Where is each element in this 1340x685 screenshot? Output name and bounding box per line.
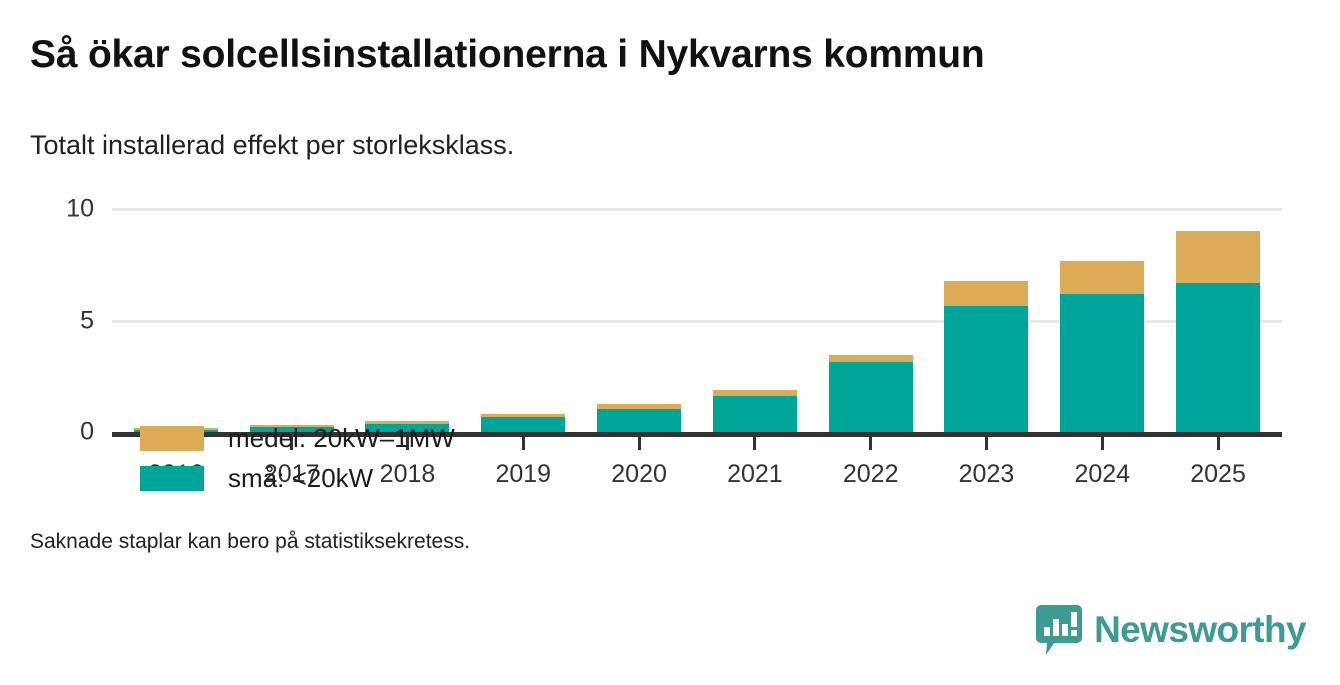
legend-item[interactable]: medel: 20kW–1MW [140, 418, 455, 458]
legend-swatch [140, 426, 204, 451]
tick-mark [1101, 437, 1104, 450]
legend-item[interactable]: små: <20kW [140, 458, 455, 498]
y-axis-labels: 0510 [0, 190, 112, 490]
tick-mark [753, 437, 756, 450]
bar-group[interactable] [813, 190, 929, 432]
bar-group[interactable] [697, 190, 813, 432]
bar-stack[interactable] [597, 404, 681, 432]
bar-segment-small[interactable] [944, 306, 1028, 432]
chart-subtitle: Totalt installerad effekt per storlekskl… [30, 130, 514, 161]
bar-group[interactable] [350, 190, 466, 432]
bar-group[interactable] [1160, 190, 1276, 432]
newsworthy-logo[interactable]: Newsworthy [1036, 605, 1306, 655]
chart-page: Så ökar solcellsinstallationerna i Nykva… [0, 0, 1340, 685]
x-axis-tick: 2024 [1044, 437, 1160, 497]
logo-wordmark: Newsworthy [1094, 609, 1306, 651]
newsworthy-bars-bubble-icon [1036, 605, 1082, 655]
x-axis-tick: 2025 [1160, 437, 1276, 497]
bar-stack[interactable] [944, 281, 1028, 432]
bar-group[interactable] [929, 190, 1045, 432]
bar-segment-medium[interactable] [1176, 231, 1260, 283]
bar-segment-medium[interactable] [829, 355, 913, 362]
bar-segment-small[interactable] [1060, 294, 1144, 432]
bar-segment-small[interactable] [597, 409, 681, 432]
x-axis-tick-label: 2020 [611, 460, 667, 489]
x-axis-tick-label: 2022 [843, 460, 899, 489]
bar-stack[interactable] [1176, 231, 1260, 432]
bar-stack[interactable] [829, 355, 913, 432]
y-axis-tick-label: 5 [80, 306, 94, 335]
legend-swatch [140, 466, 204, 491]
bar-segment-small[interactable] [481, 417, 565, 432]
bars-container [118, 190, 1276, 432]
tick-mark [869, 437, 872, 450]
bar-segment-small[interactable] [829, 362, 913, 432]
x-axis-tick-label: 2025 [1190, 460, 1246, 489]
chart-legend: medel: 20kW–1MWsmå: <20kW [140, 418, 455, 498]
bar-segment-medium[interactable] [944, 281, 1028, 306]
x-axis-tick-label: 2021 [727, 460, 783, 489]
tick-mark [1217, 437, 1220, 450]
bar-stack[interactable] [1060, 261, 1144, 432]
tick-mark [985, 437, 988, 450]
page-title: Så ökar solcellsinstallationerna i Nykva… [30, 33, 985, 77]
x-axis-tick: 2023 [929, 437, 1045, 497]
y-axis-tick-label: 0 [80, 418, 94, 447]
plot-area: 0510 20162017201820192020202120222023202… [0, 190, 1340, 490]
x-axis-tick-label: 2023 [959, 460, 1015, 489]
legend-label: medel: 20kW–1MW [228, 423, 455, 454]
bar-group[interactable] [465, 190, 581, 432]
tick-mark [638, 437, 641, 450]
x-axis-tick-label: 2024 [1074, 460, 1130, 489]
x-axis-tick: 2022 [813, 437, 929, 497]
bar-segment-small[interactable] [1176, 283, 1260, 432]
bar-stack[interactable] [481, 414, 565, 432]
bar-group[interactable] [118, 190, 234, 432]
x-axis-tick-label: 2019 [495, 460, 551, 489]
bar-segment-small[interactable] [713, 396, 797, 432]
x-axis-tick: 2020 [581, 437, 697, 497]
bar-group[interactable] [234, 190, 350, 432]
bar-group[interactable] [581, 190, 697, 432]
bar-group[interactable] [1044, 190, 1160, 432]
x-axis-tick: 2021 [697, 437, 813, 497]
bar-stack[interactable] [713, 390, 797, 432]
x-axis-tick: 2019 [465, 437, 581, 497]
footnote: Saknade staplar kan bero på statistiksek… [30, 530, 470, 554]
y-axis-tick-label: 10 [66, 195, 94, 224]
tick-mark [522, 437, 525, 450]
bar-segment-medium[interactable] [1060, 261, 1144, 294]
legend-label: små: <20kW [228, 463, 373, 494]
